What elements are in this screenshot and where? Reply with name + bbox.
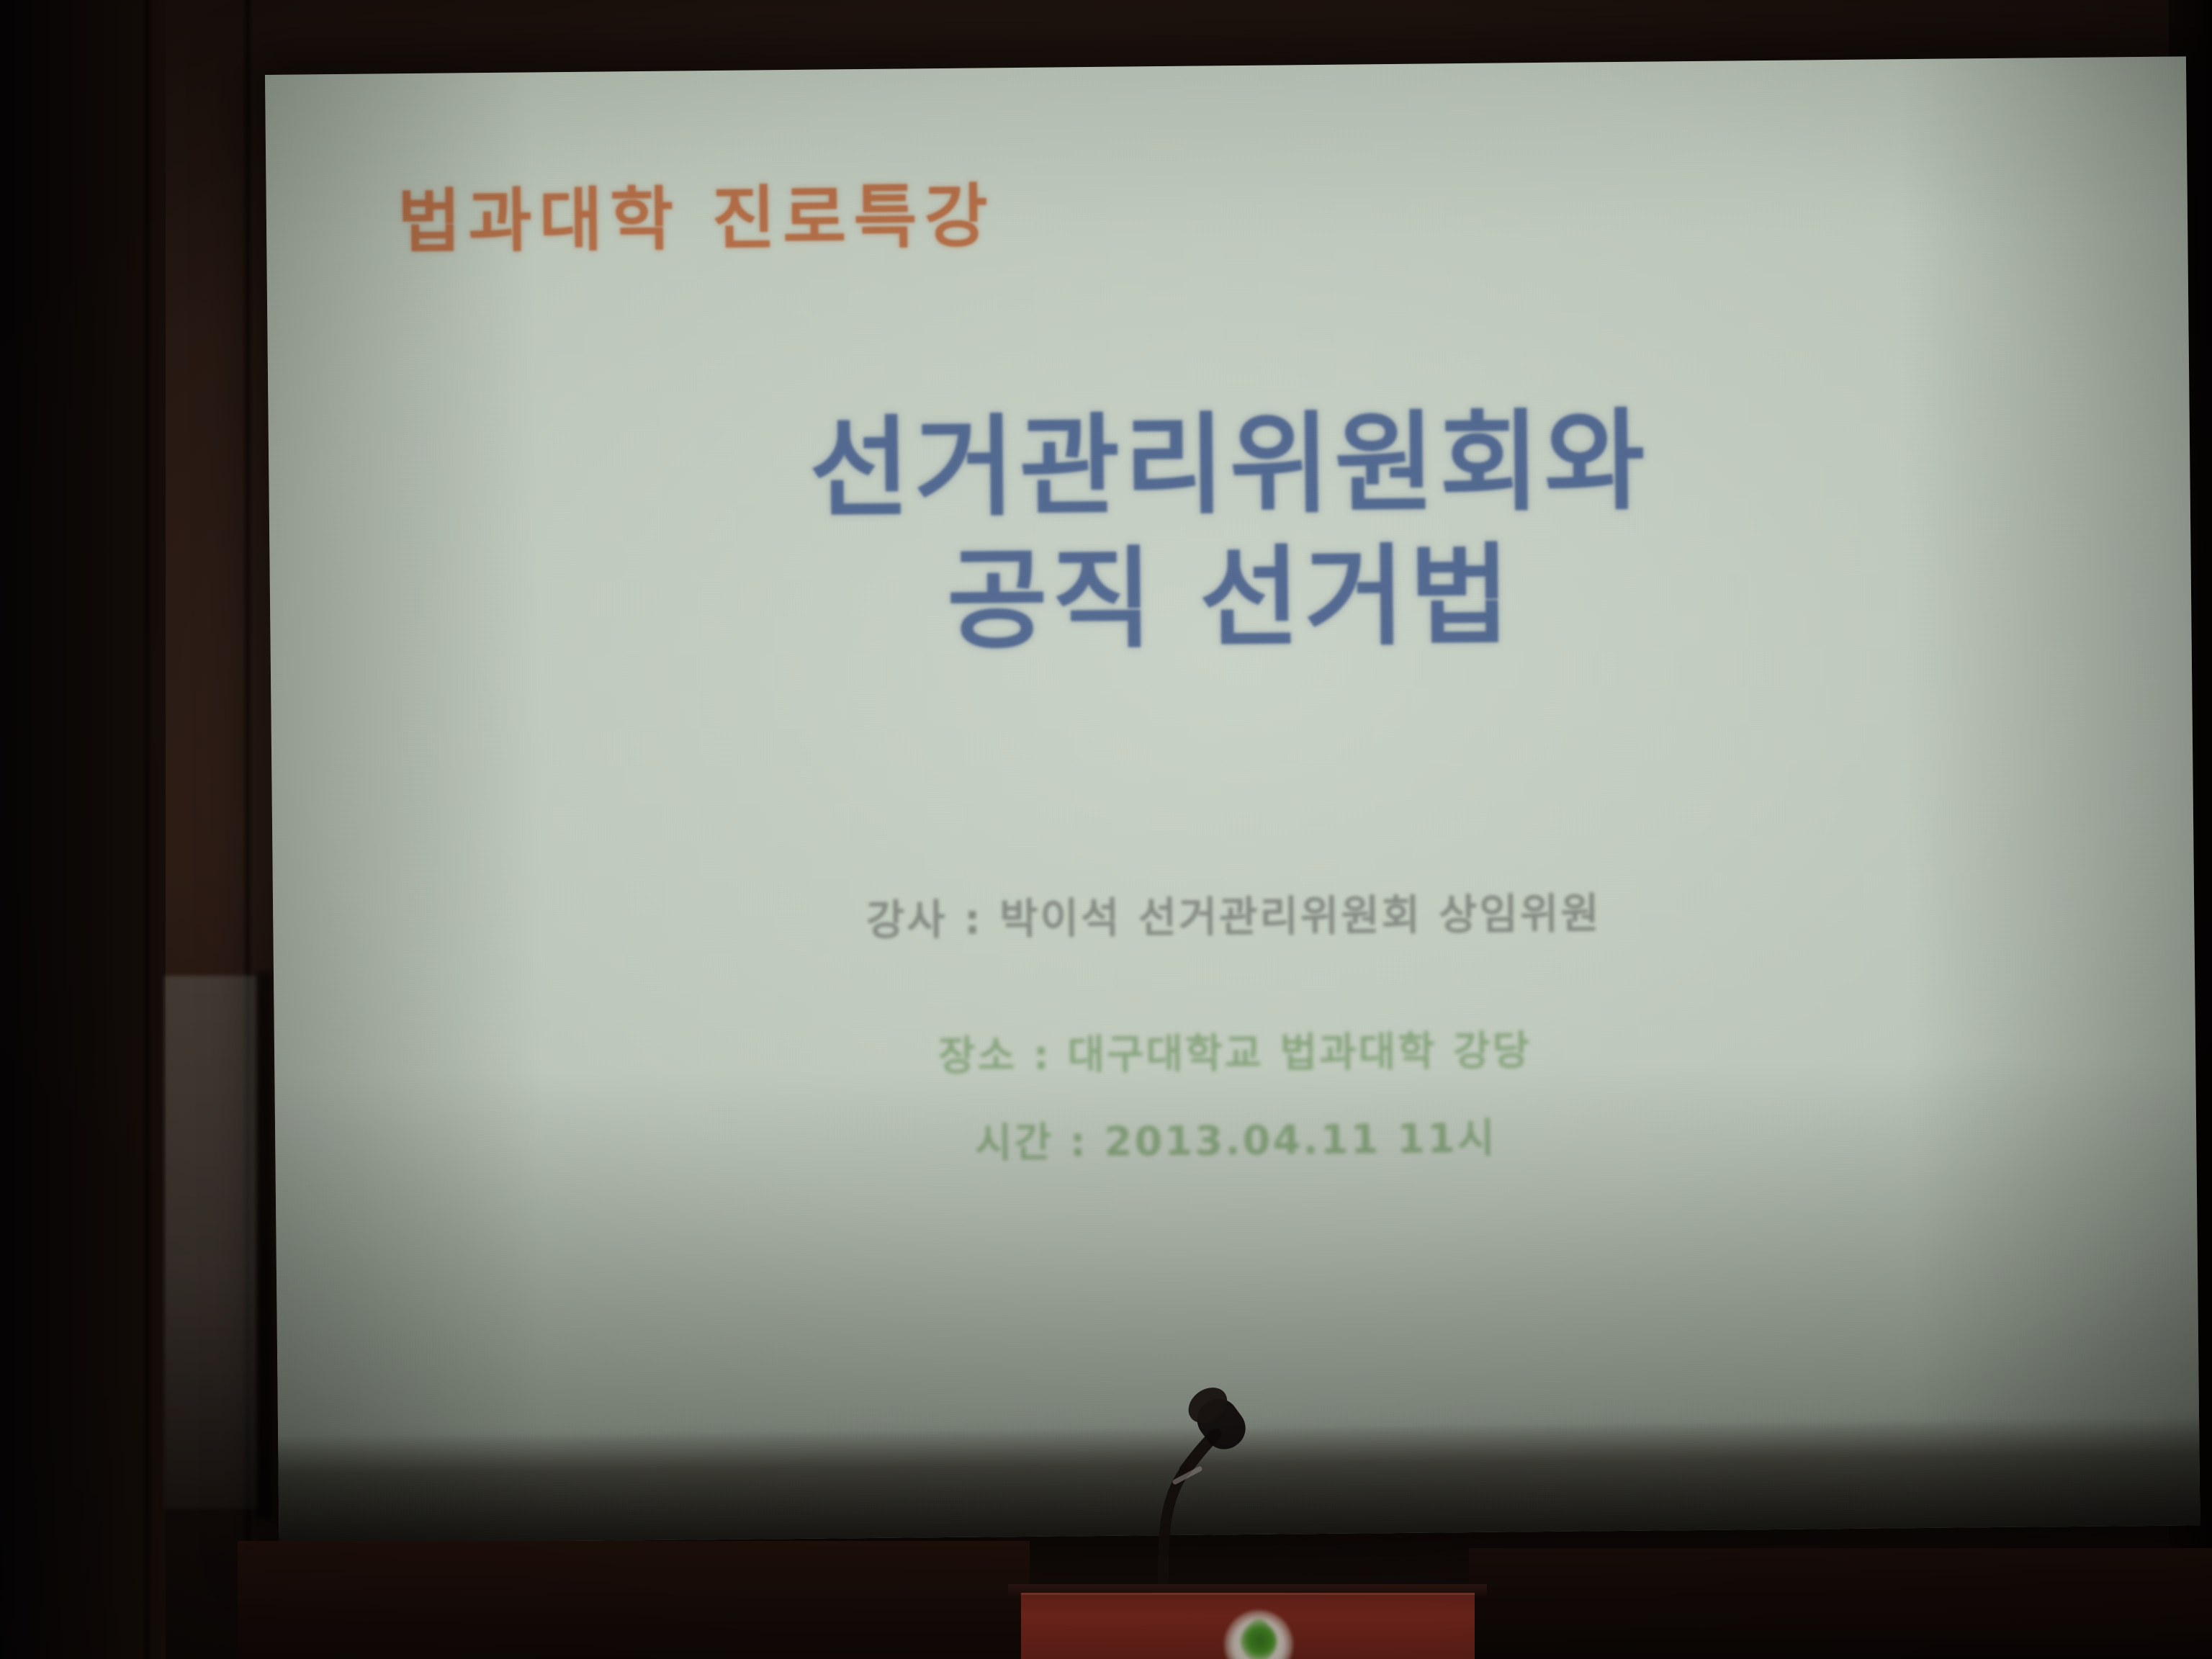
lecture-hall-scene: 법과대학 진로특강 선거관리위원회와 공직 선거법 강사 : 박이석 선거관리위… <box>0 0 2212 1659</box>
podium-shadow-right <box>1469 1548 2212 1659</box>
slide-eyebrow-heading: 법과대학 진로특강 <box>397 160 995 266</box>
slide-title-line-2: 공직 선거법 <box>269 523 2192 675</box>
podium-shadow-left <box>238 1541 1030 1659</box>
projected-slide: 법과대학 진로특강 선거관리위원회와 공직 선거법 강사 : 박이석 선거관리위… <box>265 56 2200 1544</box>
wall-seam-left <box>141 0 153 1659</box>
wall-light-panel <box>164 976 258 1509</box>
slide-presenter-line: 강사 : 박이석 선거관리위원회 상임위원 <box>273 873 2195 953</box>
slide-time-line: 시간 : 2013.04.11 11시 <box>275 1099 2197 1176</box>
projection-screen: 법과대학 진로특강 선거관리위원회와 공직 선거법 강사 : 박이석 선거관리위… <box>265 56 2200 1544</box>
slide-place-line: 장소 : 대구대학교 법과대학 강당 <box>274 1012 2196 1089</box>
slide-title-line-1: 선거관리위원회와 <box>268 389 2190 541</box>
wall-panel-edge-shadow <box>256 972 272 1519</box>
slide-title: 선거관리위원회와 공직 선거법 <box>268 389 2191 674</box>
screen-bottom-shadow <box>278 1417 2200 1544</box>
